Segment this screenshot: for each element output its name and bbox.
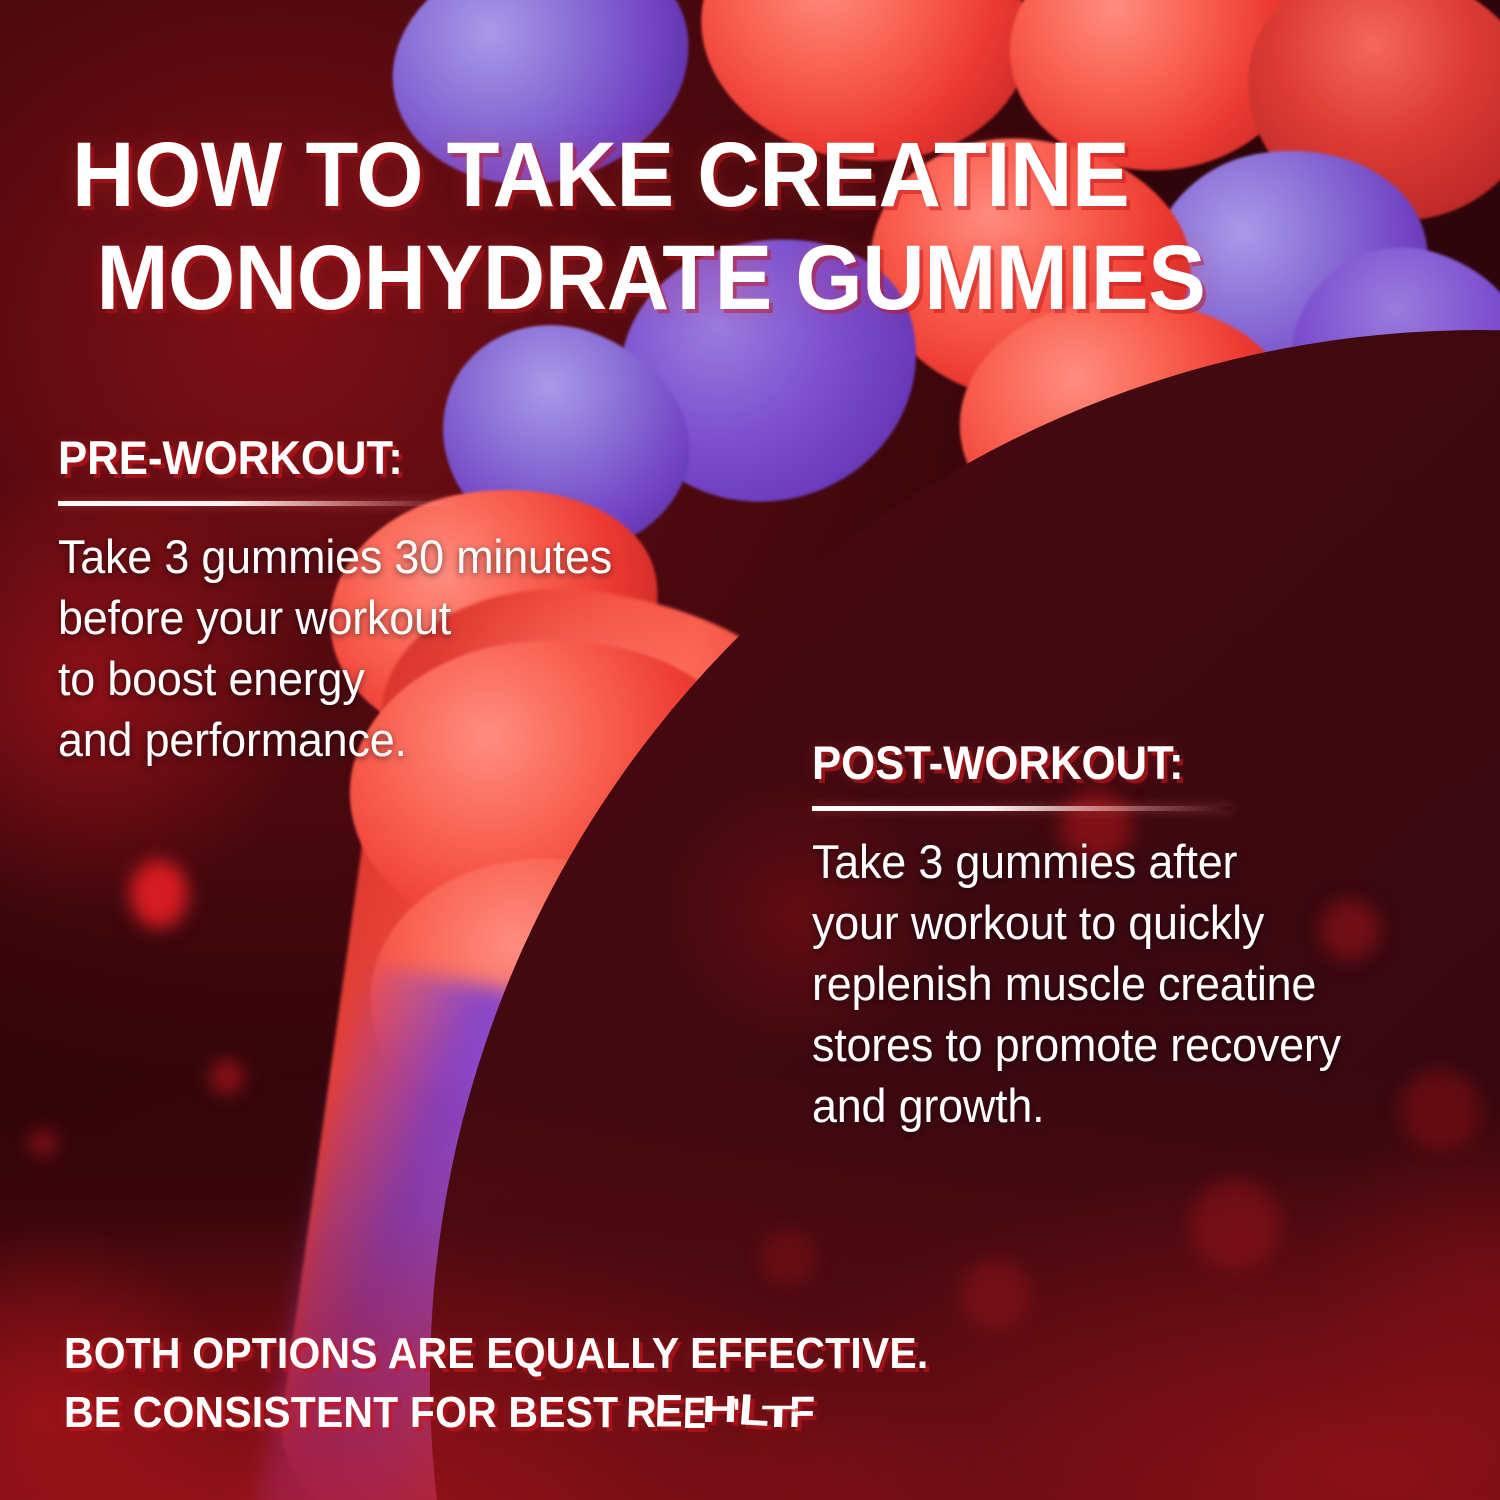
pre-workout-block: PRE-WORKOUT: Take 3 gummies 30 minutes b… (58, 430, 738, 770)
glitch-glyph: E (654, 1381, 682, 1442)
post-workout-body-line-2: your workout to quickly (812, 892, 1442, 953)
poster-canvas: HOW TO TAKE CREATINE MONOHYDRATE GUMMIES… (0, 0, 1500, 1500)
pre-workout-body-line-1: Take 3 gummies 30 minutes (58, 526, 707, 587)
footer-note: BOTH OPTIONS ARE EQUALLY EFFECTIVE. BE C… (64, 1325, 1217, 1442)
pre-workout-body-line-3: to boost energy (58, 648, 707, 709)
post-workout-body-line-4: stores to promote recovery (812, 1014, 1442, 1075)
post-workout-divider (812, 806, 1232, 811)
pre-workout-body-line-4: and performance. (58, 709, 707, 770)
page-title: HOW TO TAKE CREATINE MONOHYDRATE GUMMIES (72, 124, 1285, 330)
footer-glitched-word: REEH'LTF (625, 1384, 814, 1443)
post-workout-body-line-5: and growth. (812, 1075, 1442, 1136)
post-workout-body-line-1: Take 3 gummies after (812, 831, 1442, 892)
footer-line-2-prefix: BE CONSISTENT FOR BEST (64, 1388, 630, 1437)
bokeh-dot-1 (130, 860, 188, 928)
pre-workout-heading: PRE-WORKOUT: (58, 430, 690, 485)
title-line-1: HOW TO TAKE CREATINE (72, 124, 1285, 227)
footer-line-2: BE CONSISTENT FOR BEST REEH'LTF (64, 1384, 1217, 1443)
pre-workout-body-line-2: before your workout (58, 587, 707, 648)
glitch-glyph: R (625, 1384, 655, 1443)
post-workout-body-line-3: replenish muscle creatine (812, 953, 1442, 1014)
post-workout-body: Take 3 gummies after your workout to qui… (812, 831, 1442, 1136)
pre-workout-divider (58, 501, 458, 506)
glitch-glyph: T (761, 1396, 793, 1437)
title-line-2: MONOHYDRATE GUMMIES (96, 227, 1284, 330)
glitch-glyph: H (701, 1385, 735, 1435)
post-workout-heading: POST-WORKOUT: (812, 735, 1426, 790)
glitch-glyph: E (683, 1385, 703, 1444)
pre-workout-body: Take 3 gummies 30 minutes before your wo… (58, 526, 707, 770)
footer-line-1: BOTH OPTIONS ARE EQUALLY EFFECTIVE. (64, 1325, 1217, 1384)
post-workout-block: POST-WORKOUT: Take 3 gummies after your … (812, 735, 1472, 1136)
